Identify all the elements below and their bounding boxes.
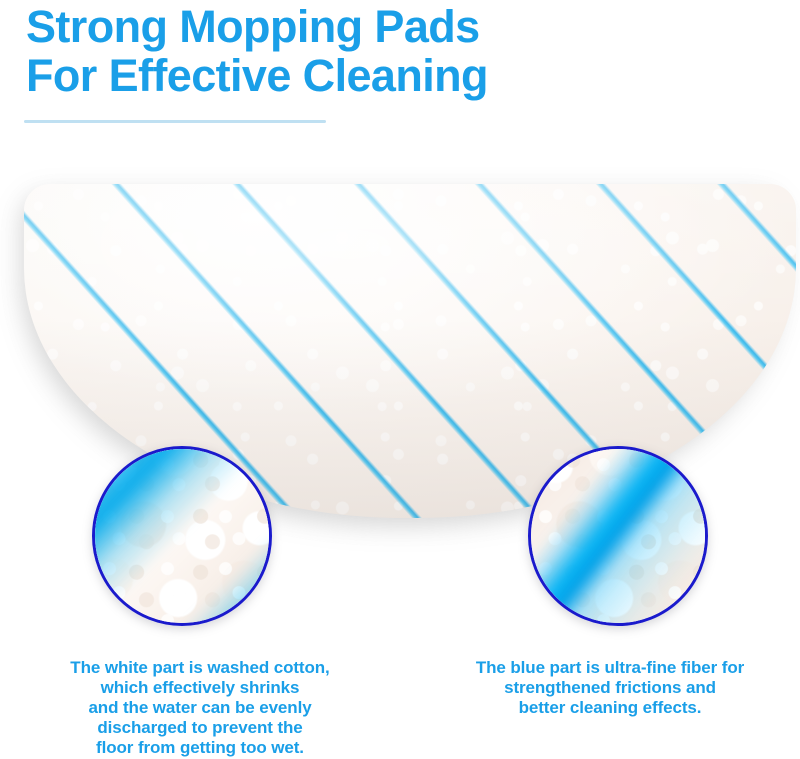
caption-line: which effectively shrinks bbox=[10, 678, 390, 698]
callout-circle-blue-part bbox=[528, 446, 708, 626]
page-title-line-2: For Effective Cleaning bbox=[26, 51, 746, 100]
page-title: Strong Mopping Pads For Effective Cleani… bbox=[26, 2, 746, 100]
page-title-line-1: Strong Mopping Pads bbox=[26, 2, 746, 51]
caption-line: floor from getting too wet. bbox=[10, 738, 390, 758]
caption-line: strengthened frictions and bbox=[435, 678, 785, 698]
caption-line: discharged to prevent the bbox=[10, 718, 390, 738]
product-feature-graphic: Strong Mopping Pads For Effective Cleani… bbox=[0, 0, 800, 759]
caption-line: better cleaning effects. bbox=[435, 698, 785, 718]
caption-white-part: The white part is washed cotton, which e… bbox=[10, 658, 390, 758]
caption-line: The blue part is ultra-fine fiber for bbox=[435, 658, 785, 678]
callout-circle-white-part bbox=[92, 446, 272, 626]
title-divider bbox=[24, 120, 326, 123]
caption-line: and the water can be evenly bbox=[10, 698, 390, 718]
caption-blue-part: The blue part is ultra-fine fiber for st… bbox=[435, 658, 785, 718]
caption-line: The white part is washed cotton, bbox=[10, 658, 390, 678]
